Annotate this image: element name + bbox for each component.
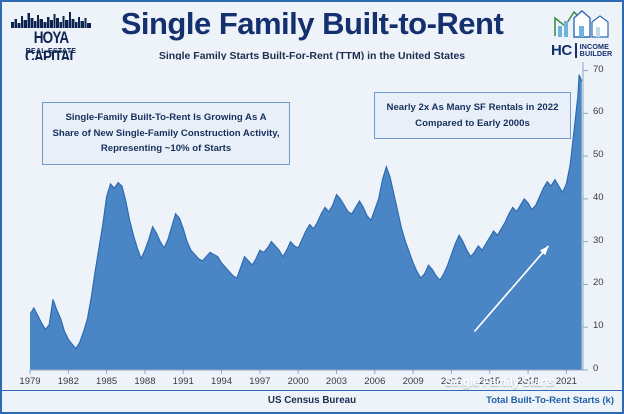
- chart-header: Single Family Built-to-Rent Single Famil…: [2, 2, 622, 64]
- callout-left: Single-Family Built-To-Rent Is Growing A…: [42, 102, 290, 165]
- x-tick-label: 1985: [87, 376, 127, 387]
- hc-wordmark: HC INCOME BUILDER: [551, 39, 615, 61]
- x-tick-label: 1994: [202, 376, 242, 387]
- hoya-capital-logo: HOYA CAPITAL REAL ESTATE: [7, 8, 95, 62]
- x-tick-label: 2000: [278, 376, 318, 387]
- callout-right-pre: Nearly: [387, 102, 419, 113]
- x-tick-label: 1997: [240, 376, 280, 387]
- x-tick-label: 2006: [355, 376, 395, 387]
- page-title: Single Family Built-to-Rent: [2, 6, 622, 42]
- hc-mark: HC: [551, 43, 577, 58]
- hoya-capital-tagline: REAL ESTATE: [9, 48, 93, 55]
- x-tick-label: 1991: [163, 376, 203, 387]
- chart-frame: Single Family Built-to-Rent Single Famil…: [0, 0, 624, 414]
- y-tick-label: 40: [593, 192, 604, 203]
- callout-right-post: As Many SF Rentals in 2022 Compared to E…: [415, 102, 558, 129]
- y-tick-label: 20: [593, 277, 604, 288]
- callout-right-emphasis: 2x: [419, 102, 430, 113]
- y-tick-label: 0: [593, 363, 598, 374]
- growth-chart-buildings-icon: [552, 6, 614, 40]
- chart-footer: US Census Bureau Total Built-To-Rent Sta…: [2, 390, 622, 412]
- hc-income-builder-logo: HC INCOME BUILDER: [550, 6, 616, 62]
- y-tick-label: 70: [593, 64, 604, 75]
- y-tick-label: 60: [593, 106, 604, 117]
- x-tick-label: 1988: [125, 376, 165, 387]
- hc-word-builder: BUILDER: [580, 50, 613, 57]
- y-tick-label: 10: [593, 320, 604, 331]
- x-tick-label: 1979: [10, 376, 50, 387]
- y-tick-label: 50: [593, 149, 604, 160]
- callout-right: Nearly 2x As Many SF Rentals in 2022 Com…: [374, 92, 571, 139]
- city-skyline-icon: [11, 10, 91, 28]
- hc-words: INCOME BUILDER: [577, 43, 613, 58]
- footer-axis-title: Total Built-To-Rent Starts (k): [486, 395, 614, 406]
- y-tick-label: 30: [593, 235, 604, 246]
- x-tick-label: 1982: [48, 376, 88, 387]
- x-tick-label: 2003: [317, 376, 357, 387]
